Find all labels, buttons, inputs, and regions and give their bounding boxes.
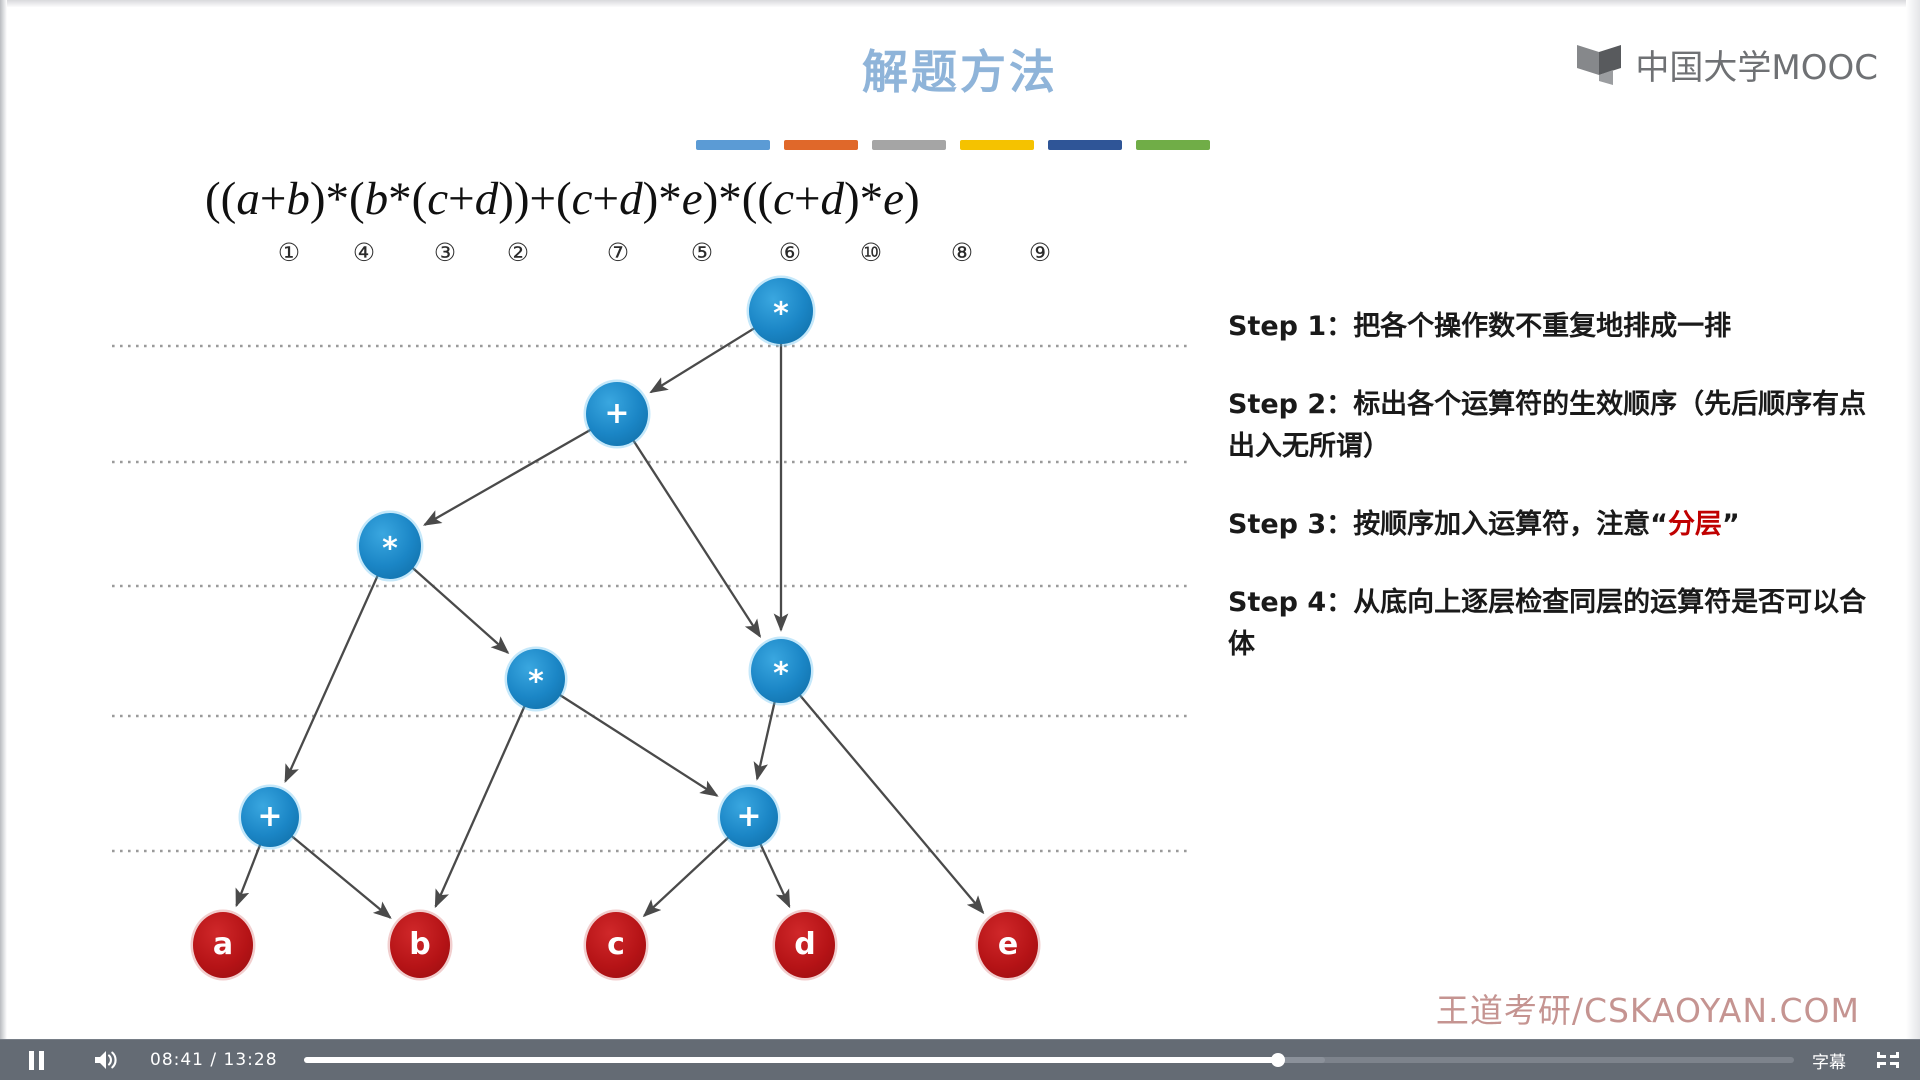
step-label-4: Step 4： — [1228, 587, 1353, 618]
node-label: + — [736, 799, 761, 834]
tree-edge-n1-n2 — [651, 328, 755, 393]
volume-button[interactable] — [84, 1040, 128, 1080]
tree-edge-n5-e — [799, 694, 983, 912]
duration: 13:28 — [224, 1050, 278, 1070]
tree-node-n7[interactable]: + — [718, 785, 781, 850]
pause-button[interactable] — [14, 1040, 58, 1080]
tree-edge-n7-d — [760, 843, 789, 906]
step-item-1: Step 1：把各个操作数不重复地排成一排 — [1228, 306, 1868, 348]
time-display: 08:41 / 13:28 — [150, 1050, 278, 1070]
tree-edge-n6-a — [236, 844, 260, 906]
tree-node-n1[interactable]: * — [747, 276, 816, 347]
exit-fullscreen-icon — [1877, 1049, 1899, 1071]
tree-node-n6[interactable]: + — [239, 785, 302, 850]
tree-edge-n6-b — [291, 835, 390, 917]
node-label: + — [604, 396, 629, 431]
tree-node-n3[interactable]: * — [357, 511, 424, 582]
tree-edge-n2-n3 — [425, 429, 592, 525]
step-label-1: Step 1： — [1228, 311, 1353, 342]
current-time: 08:41 — [150, 1050, 204, 1070]
mooc-logo: 中国大学MOOC — [1577, 40, 1878, 89]
mooc-logo-text: 中国大学MOOC — [1635, 40, 1878, 89]
video-player-page: 解题方法 中国大学MOOC ((a+b)*(b*(c+d))+(c+d)*e)*… — [0, 0, 1920, 1080]
node-label: * — [528, 665, 544, 700]
progress-knob[interactable] — [1271, 1053, 1285, 1067]
tree-node-n2[interactable]: + — [584, 380, 651, 449]
progress-played — [304, 1057, 1279, 1063]
mooc-book-logo-icon — [1577, 43, 1623, 87]
tree-node-a[interactable]: a — [191, 910, 256, 981]
tree-node-b[interactable]: b — [388, 910, 453, 981]
tree-node-n4[interactable]: * — [505, 647, 568, 712]
step-text-after-3: ” — [1722, 509, 1740, 540]
step-text-3: 按顺序加入运算符，注意“ — [1353, 509, 1668, 540]
slide-canvas: 解题方法 中国大学MOOC ((a+b)*(b*(c+d))+(c+d)*e)*… — [0, 0, 1920, 1040]
node-label: c — [607, 927, 625, 962]
tree-edge-n3-n4 — [412, 567, 508, 653]
player-controls-bar: 08:41 / 13:28 字幕 — [0, 1039, 1920, 1080]
tree-edge-n3-n6 — [285, 575, 378, 782]
node-label: b — [409, 927, 430, 962]
step-label-3: Step 3： — [1228, 509, 1353, 540]
volume-icon — [93, 1049, 119, 1071]
node-label: a — [213, 927, 233, 962]
pause-icon-bar-right — [39, 1051, 44, 1070]
steps-list: Step 1：把各个操作数不重复地排成一排Step 2：标出各个运算符的生效顺序… — [1228, 306, 1868, 702]
node-label: * — [382, 532, 398, 567]
tree-edge-n2-n5 — [633, 440, 760, 637]
tree-node-d[interactable]: d — [773, 910, 838, 981]
watermark: 王道考研/CSKAOYAN.COM — [1436, 984, 1860, 1032]
node-label: + — [257, 799, 282, 834]
captions-button[interactable]: 字幕 — [1812, 1048, 1846, 1073]
tree-node-n5[interactable]: * — [749, 637, 814, 706]
node-label: * — [773, 297, 789, 332]
time-separator: / — [210, 1050, 217, 1070]
tree-node-c[interactable]: c — [584, 910, 649, 981]
step-item-4: Step 4：从底向上逐层检查同层的运算符是否可以合体 — [1228, 582, 1868, 666]
tree-edge-n4-b — [436, 705, 525, 906]
slide-edge-right — [1906, 0, 1920, 1040]
tree-edge-n4-n7 — [559, 694, 717, 795]
step-text-1: 把各个操作数不重复地排成一排 — [1353, 311, 1731, 342]
tree-edge-n7-c — [644, 837, 729, 916]
node-label: e — [998, 927, 1018, 962]
tree-edge-n5-n7 — [757, 701, 775, 779]
node-label: * — [773, 657, 789, 692]
expression-tree: *+***++abcde — [0, 0, 1230, 1040]
step-label-2: Step 2： — [1228, 389, 1353, 420]
step-item-3: Step 3：按顺序加入运算符，注意“分层” — [1228, 504, 1868, 546]
pause-icon-bar-left — [29, 1051, 34, 1070]
step-highlight-3: 分层 — [1668, 509, 1722, 540]
step-item-2: Step 2：标出各个运算符的生效顺序（先后顺序有点出入无所谓） — [1228, 384, 1868, 468]
exit-fullscreen-button[interactable] — [1868, 1040, 1908, 1080]
progress-bar[interactable] — [304, 1057, 1794, 1063]
node-label: d — [794, 927, 815, 962]
tree-node-e[interactable]: e — [976, 910, 1041, 981]
